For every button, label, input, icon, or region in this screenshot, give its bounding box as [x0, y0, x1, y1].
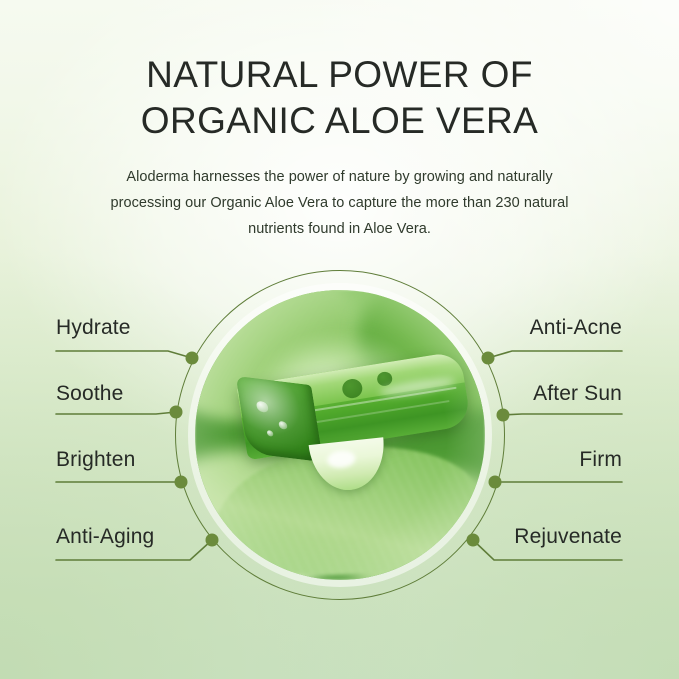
- benefit-label-firm[interactable]: Firm: [579, 447, 622, 473]
- benefit-label-after-sun[interactable]: After Sun: [533, 381, 622, 407]
- connector-soothe: [56, 412, 176, 414]
- poster-canvas: NATURAL POWER OF ORGANIC ALOE VERA Alode…: [0, 0, 679, 679]
- connector-hydrate: [56, 351, 192, 358]
- page-title: NATURAL POWER OF ORGANIC ALOE VERA: [0, 52, 679, 144]
- connector-anti-acne: [488, 351, 622, 358]
- connector-after-sun: [503, 414, 622, 415]
- benefit-label-anti-aging[interactable]: Anti-Aging: [56, 524, 154, 550]
- benefit-label-brighten[interactable]: Brighten: [56, 447, 135, 473]
- benefit-label-soothe[interactable]: Soothe: [56, 381, 123, 407]
- benefit-label-rejuvenate[interactable]: Rejuvenate: [514, 524, 622, 550]
- benefit-label-hydrate[interactable]: Hydrate: [56, 315, 131, 341]
- header-block: NATURAL POWER OF ORGANIC ALOE VERA Alode…: [0, 52, 679, 242]
- diagram-outer-ring: [175, 270, 505, 600]
- benefit-label-anti-acne[interactable]: Anti-Acne: [530, 315, 622, 341]
- page-subcopy: Aloderma harnesses the power of nature b…: [90, 164, 590, 242]
